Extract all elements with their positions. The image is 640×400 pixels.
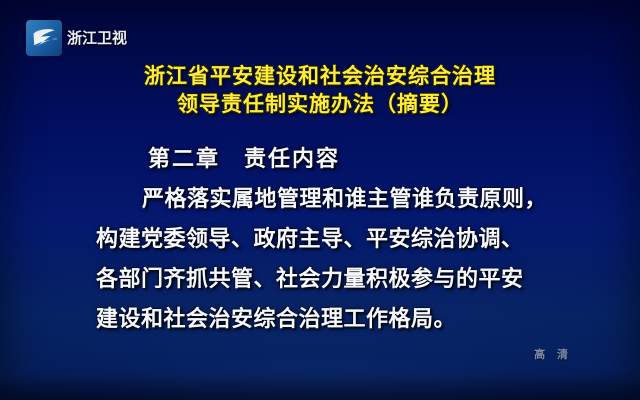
body-line-2: 构建党委领导、政府主导、平安综治协调、: [96, 220, 556, 260]
program-title-line-2: 领导责任制实施办法（摘要）: [0, 90, 640, 118]
body-line-4: 建设和社会治安综合治理工作格局。: [96, 300, 556, 340]
zhejiang-tv-z-swoosh-icon: [26, 20, 62, 56]
hd-watermark: 高 清: [534, 346, 572, 362]
channel-name-label: 浙江卫视: [67, 31, 127, 46]
program-title: 浙江省平安建设和社会治安综合治理 领导责任制实施办法（摘要）: [0, 62, 640, 118]
channel-bug: 浙江卫视: [26, 20, 127, 56]
body-text-block: 第二章 责任内容 严格落实属地管理和谁主管谁负责原则， 构建党委领导、政府主导、…: [96, 140, 556, 340]
program-title-line-1: 浙江省平安建设和社会治安综合治理: [0, 62, 640, 90]
body-line-1: 严格落实属地管理和谁主管谁负责原则，: [96, 180, 556, 220]
body-line-chapter-heading: 第二章 责任内容: [96, 140, 556, 180]
body-line-3: 各部门齐抓共管、社会力量积极参与的平安: [96, 260, 556, 300]
broadcast-frame: 浙江卫视 浙江省平安建设和社会治安综合治理 领导责任制实施办法（摘要） 第二章 …: [0, 0, 640, 400]
